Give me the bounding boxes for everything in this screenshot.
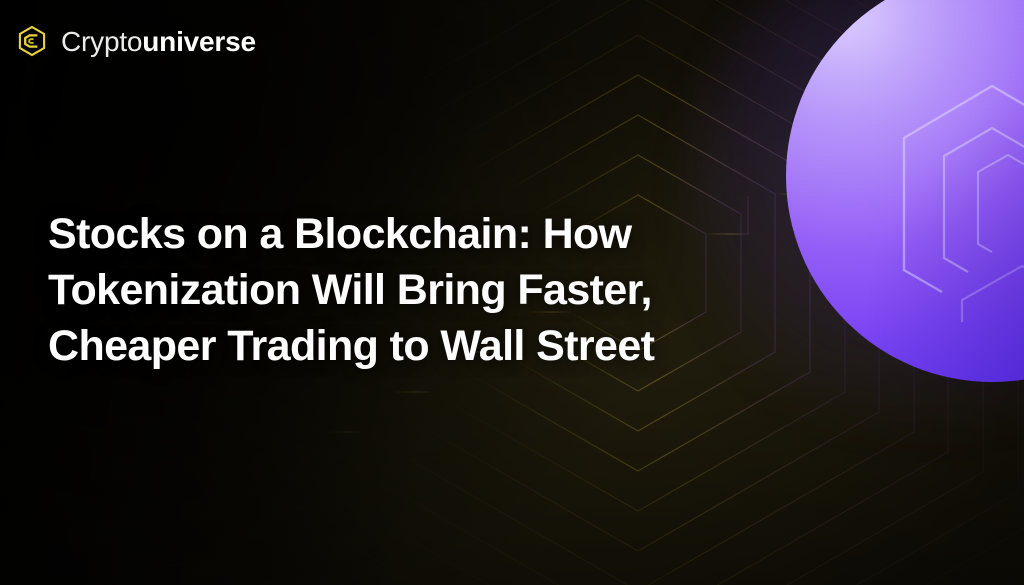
- page-title-line-3: Cheaper Trading to Wall Street: [48, 318, 838, 374]
- page-title-line-1: Stocks on a Blockchain: How: [48, 206, 838, 262]
- hexagon-c-logo-icon: [12, 22, 52, 62]
- page-title: Stocks on a Blockchain: How Tokenization…: [48, 206, 838, 374]
- brand-wordmark: Cryptouniverse: [61, 28, 256, 56]
- page-title-line-2: Tokenization Will Bring Faster,: [48, 262, 838, 318]
- brand-name-bold: universe: [142, 26, 256, 57]
- brand-logo[interactable]: Cryptouniverse: [12, 20, 256, 64]
- brand-name-light: Crypto: [61, 26, 142, 57]
- hero-banner: Cryptouniverse Stocks on a Blockchain: H…: [0, 0, 1024, 585]
